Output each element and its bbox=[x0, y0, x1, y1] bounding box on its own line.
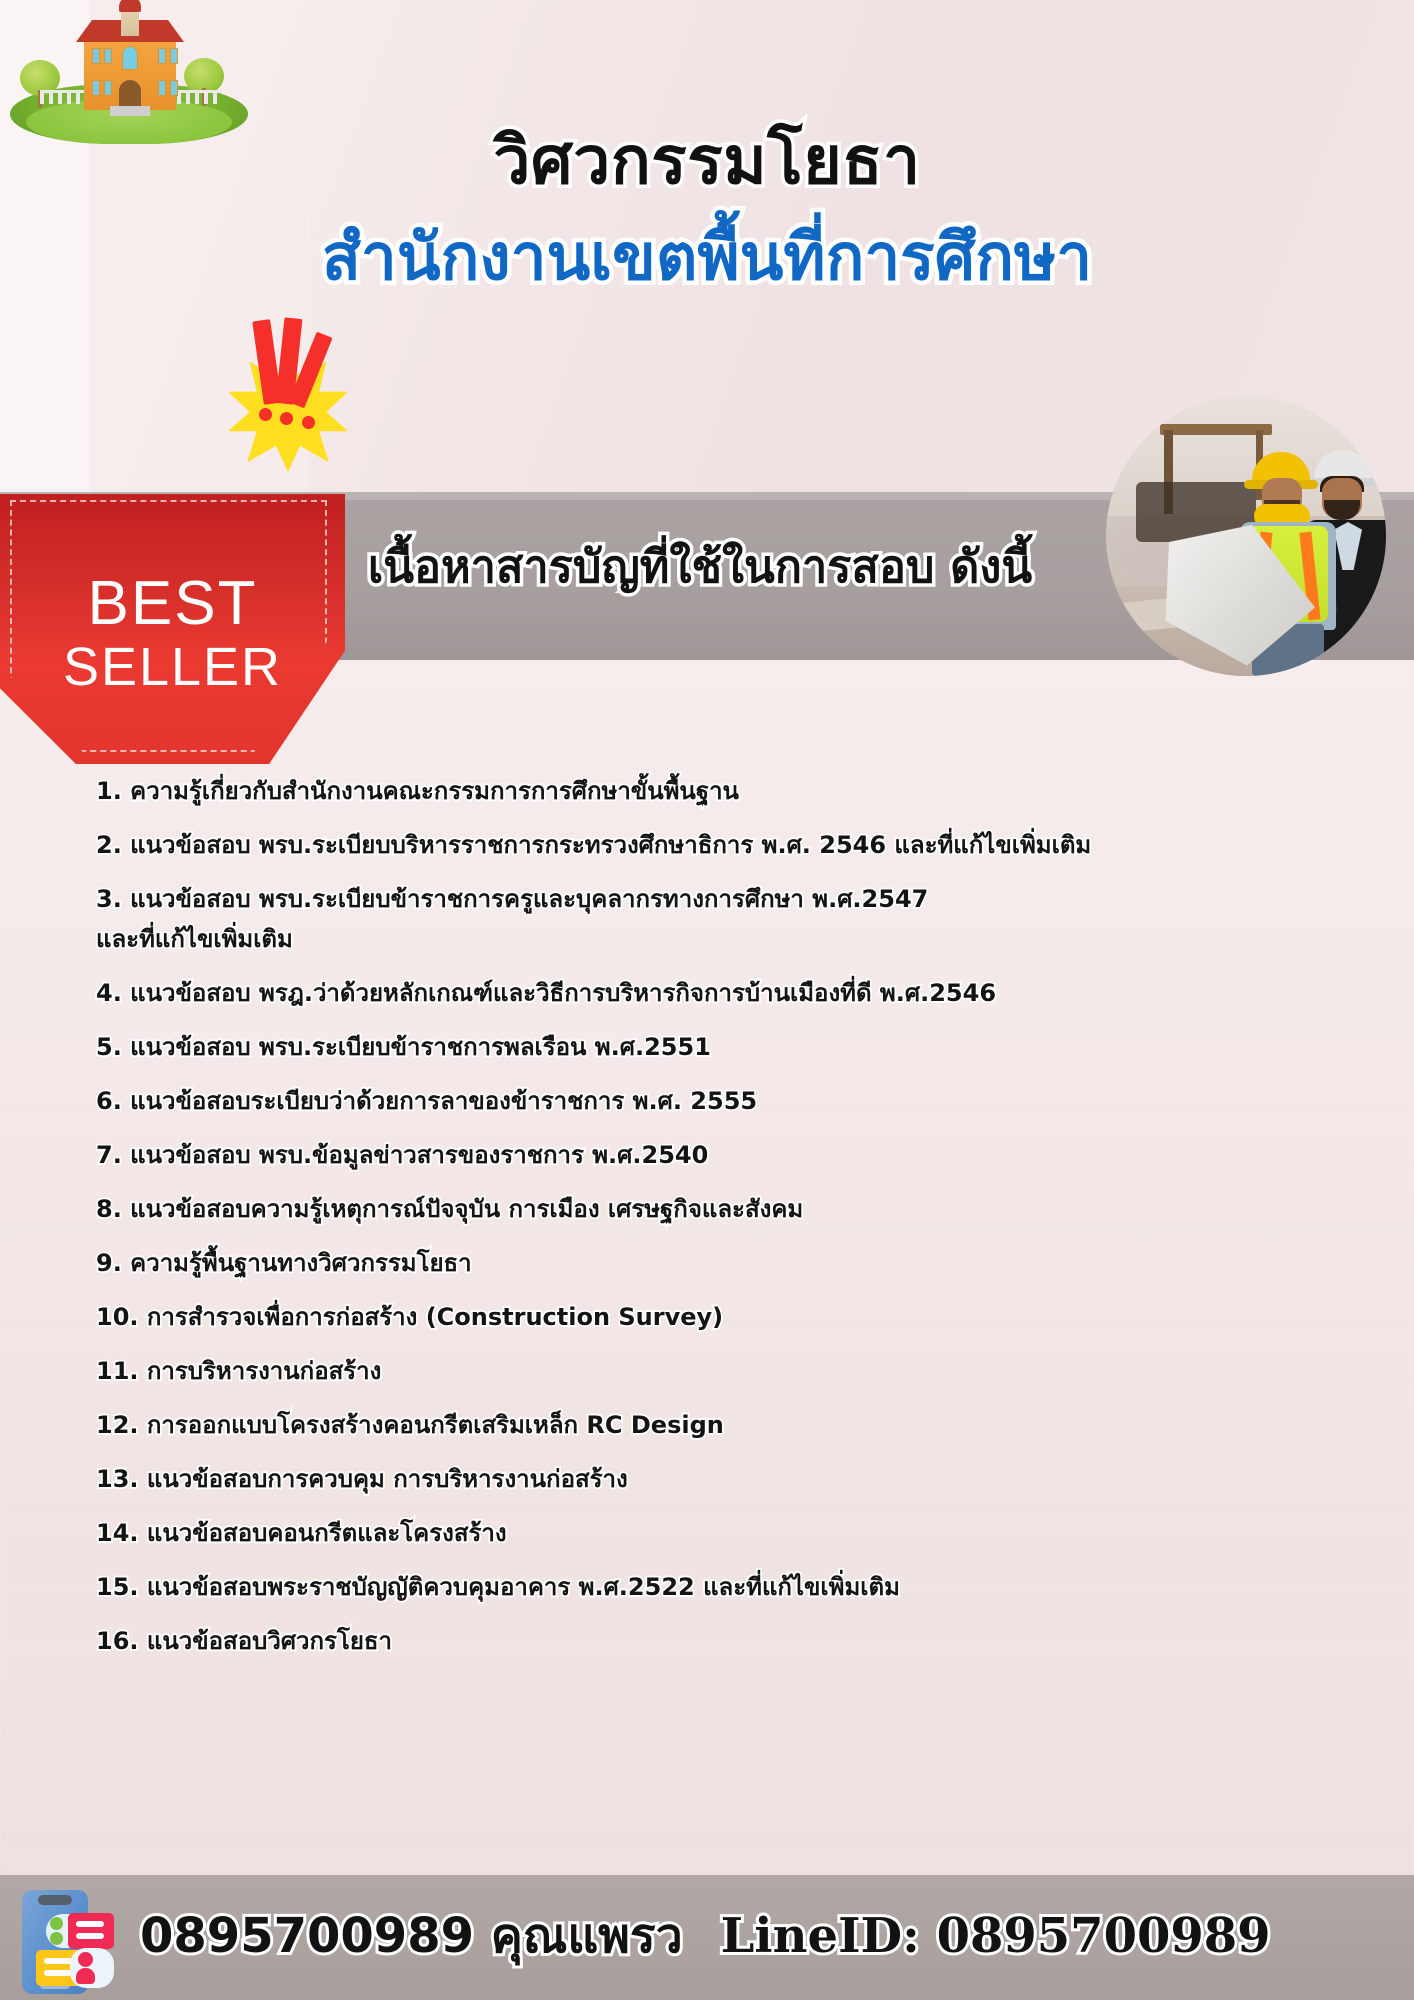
list-item: 5. แนวข้อสอบ พรบ.ระเบียบข้าราชการพลเรือน… bbox=[96, 1032, 1326, 1062]
list-item: 2. แนวข้อสอบ พรบ.ระเบียบบริหารราชการกระท… bbox=[96, 830, 1326, 860]
list-item: 6. แนวข้อสอบระเบียบว่าด้วยการลาของข้าราช… bbox=[96, 1086, 1326, 1116]
exclamation-burst-icon bbox=[228, 352, 348, 472]
list-item: 12. การออกแบบโครงสร้างคอนกรีตเสริมเหล็ก … bbox=[96, 1410, 1326, 1440]
school-steps bbox=[110, 106, 150, 116]
list-item: 15. แนวข้อสอบพระราชบัญญัติควบคุมอาคาร พ.… bbox=[96, 1572, 1326, 1602]
list-item: 1. ความรู้เกี่ยวกับสำนักงานคณะกรรมการการ… bbox=[96, 776, 1326, 806]
poster-root: วิศวกรรมโยธา สำนักงานเขตพื้นที่การศึกษา … bbox=[0, 0, 1414, 2000]
badge-line-1: BEST bbox=[0, 568, 345, 639]
list-item: 9. ความรู้พื้นฐานทางวิศวกรรมโยธา bbox=[96, 1248, 1326, 1278]
list-item: 16. แนวข้อสอบวิศวกรโยธา bbox=[96, 1626, 1326, 1656]
page-subtitle: สำนักงานเขตพื้นที่การศึกษา bbox=[0, 225, 1414, 292]
list-item: 10. การสำรวจเพื่อการก่อสร้าง (Constructi… bbox=[96, 1302, 1326, 1332]
page-title: วิศวกรรมโยธา bbox=[0, 126, 1414, 195]
construction-engineers-photo bbox=[1106, 396, 1386, 676]
banner-heading: เนื้อหาสารบัญที่ใช้ในการสอบ ดังนี้ bbox=[300, 530, 1100, 602]
list-item: 14. แนวข้อสอบคอนกรีตและโครงสร้าง bbox=[96, 1518, 1326, 1548]
list-item: 13. แนวข้อสอบการควบคุม การบริหารงานก่อสร… bbox=[96, 1464, 1326, 1494]
list-item: 7. แนวข้อสอบ พรบ.ข้อมูลข่าวสารของราชการ … bbox=[96, 1140, 1326, 1170]
footer-lineid[interactable]: LineID: 0895700989 bbox=[721, 1908, 1271, 1964]
footer-contact: 0895700989 คุณแพรว LineID: 0895700989 bbox=[140, 1898, 1400, 1974]
list-item: 11. การบริหารงานก่อสร้าง bbox=[96, 1356, 1326, 1386]
school-dome bbox=[119, 0, 141, 12]
phone-contact-card-icon bbox=[22, 1890, 118, 1994]
best-seller-badge: BEST SELLER bbox=[0, 494, 345, 764]
badge-line-2: SELLER bbox=[0, 636, 345, 698]
footer-phone[interactable]: 0895700989 คุณแพรว bbox=[140, 1898, 683, 1974]
contents-list: 1. ความรู้เกี่ยวกับสำนักงานคณะกรรมการการ… bbox=[96, 776, 1326, 1680]
list-item: 3. แนวข้อสอบ พรบ.ระเบียบข้าราชการครูและบ… bbox=[96, 884, 1326, 914]
list-item-continuation: และที่แก้ไขเพิ่มเติม bbox=[96, 924, 1326, 954]
list-item: 8. แนวข้อสอบความรู้เหตุการณ์ปัจจุบัน การ… bbox=[96, 1194, 1326, 1224]
list-item: 4. แนวข้อสอบ พรฎ.ว่าด้วยหลักเกณฑ์และวิธี… bbox=[96, 978, 1326, 1008]
